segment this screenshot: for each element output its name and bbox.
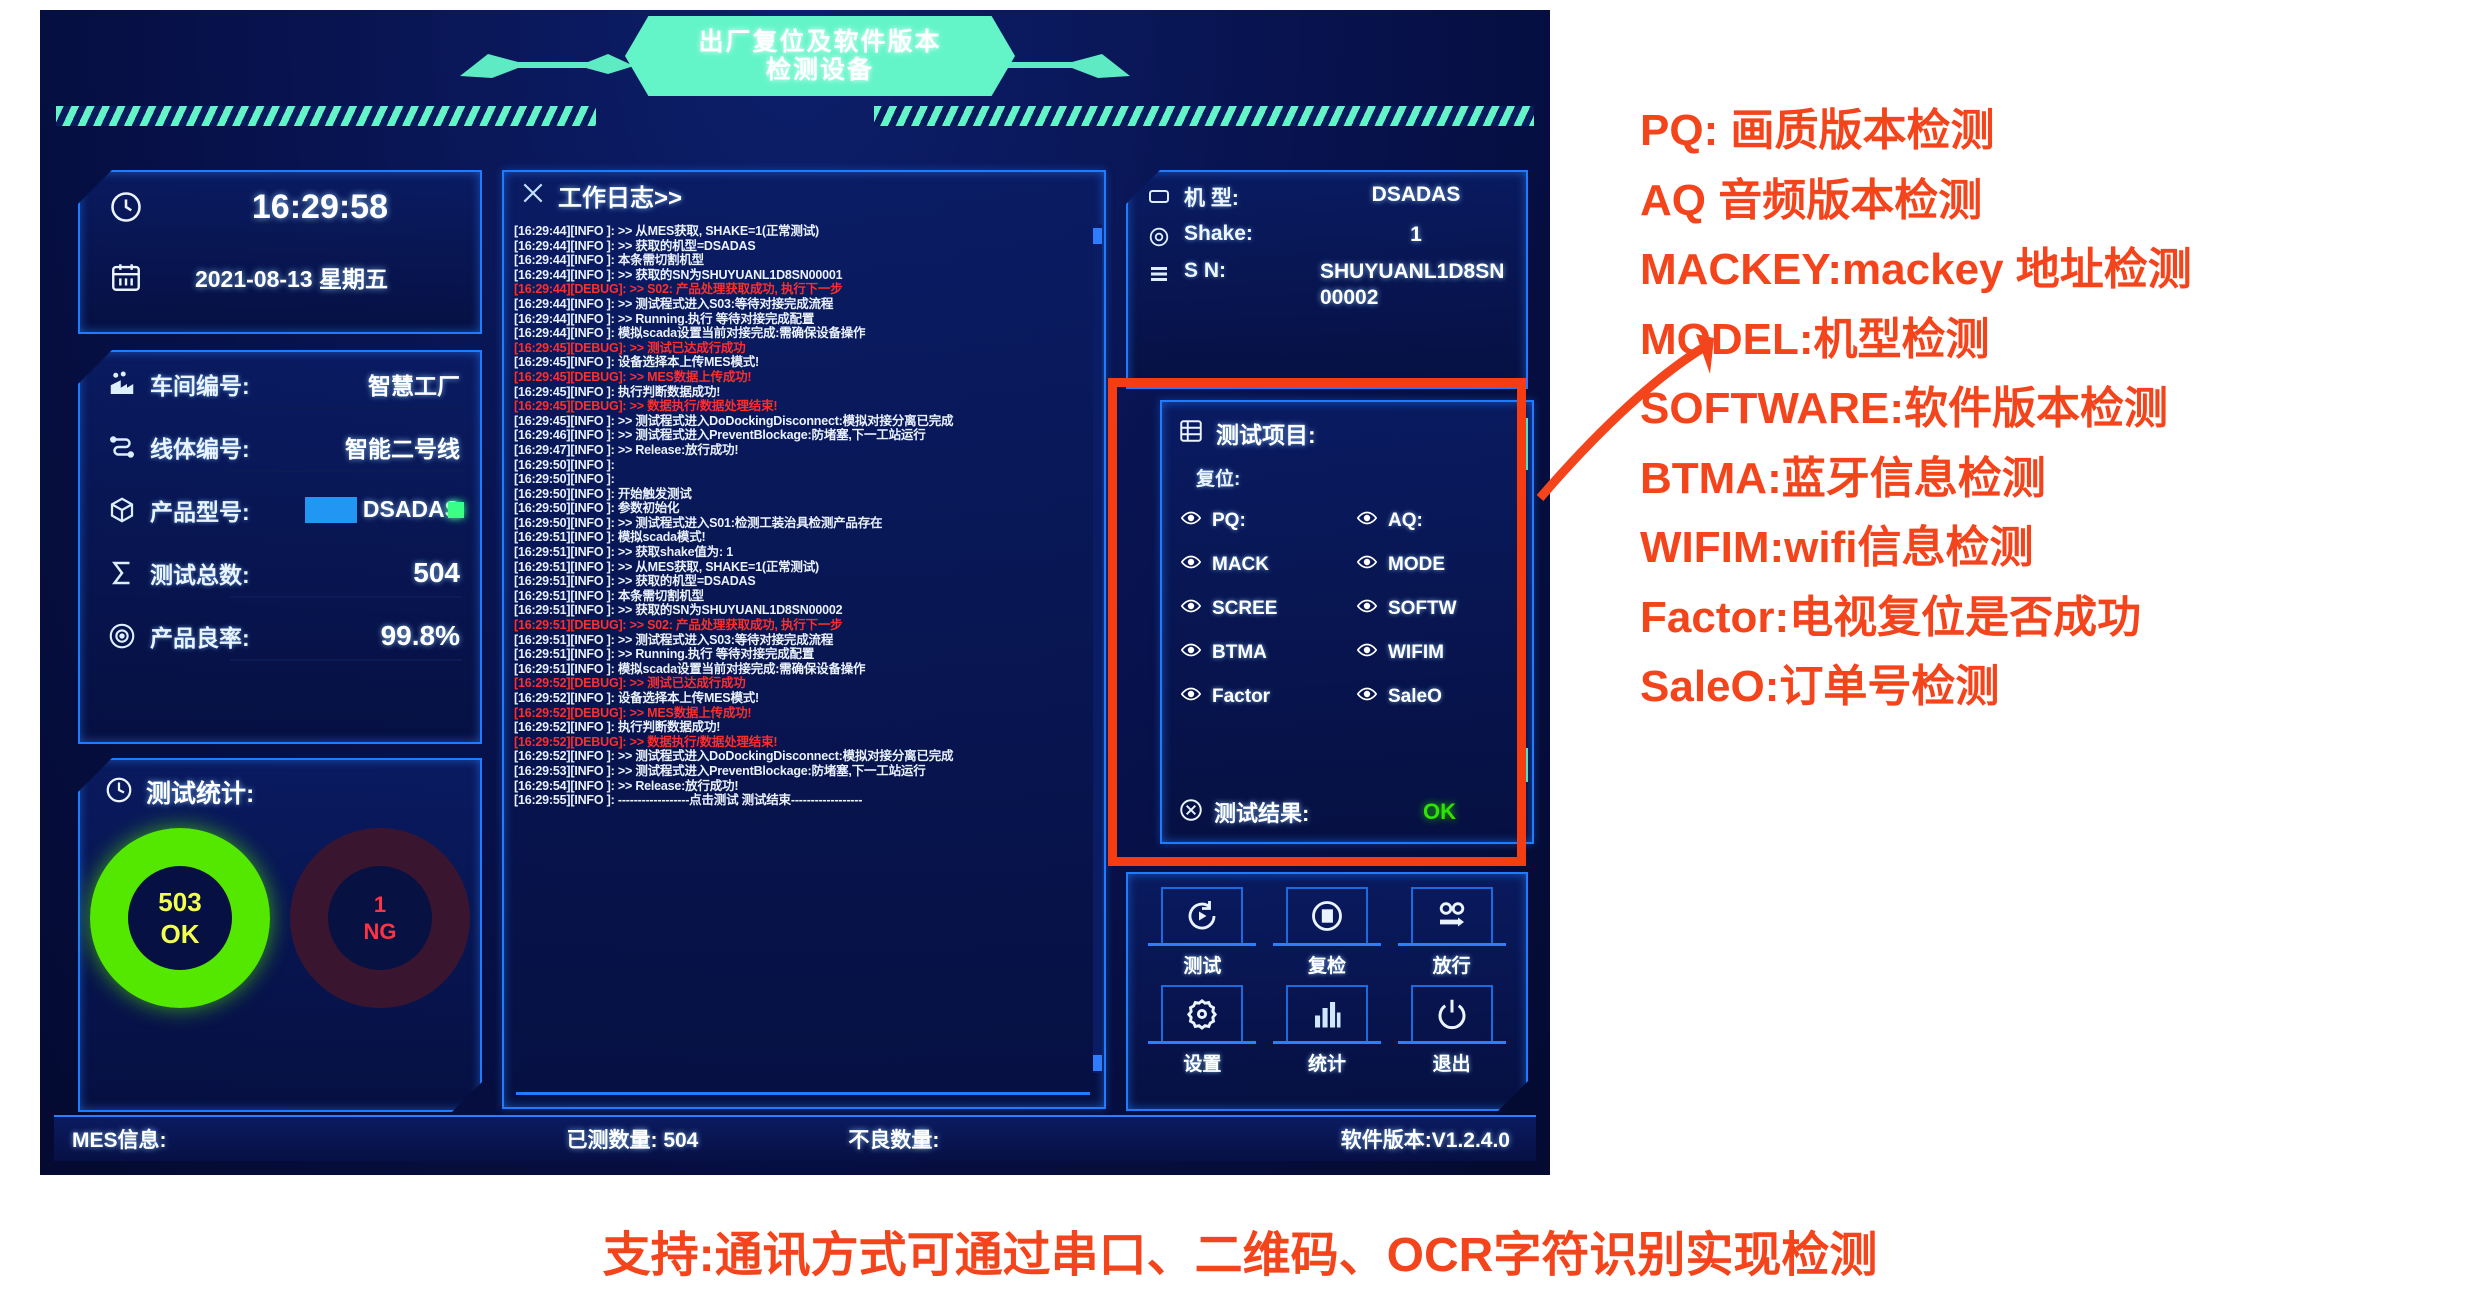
work-log-footer-line	[516, 1092, 1090, 1095]
device-row-sn: S N: SHUYUANL1D8SN00002	[1128, 249, 1526, 312]
log-line: [16:29:51][INFO ]: >> Running.执行 等待对接完成配…	[514, 647, 1092, 662]
info-label-workshop: 车间编号:	[150, 367, 250, 401]
log-line: [16:29:44][INFO ]: 模拟scada设置当前对接完成:需确保设备…	[514, 326, 1092, 341]
log-line: [16:29:51][DEBUG]: >> S02: 产品处理获取成功, 执行下…	[514, 618, 1092, 633]
log-line: [16:29:50][INFO ]: 开始触发测试	[514, 487, 1092, 502]
work-log-header: 工作日志>>	[504, 172, 1104, 218]
action-buttons-grid: 测试复检放行设置统计退出	[1128, 874, 1526, 1089]
donut-ok-label: 503 OK	[158, 886, 201, 951]
status-version: 软件版本:V1.2.4.0	[1341, 1124, 1510, 1154]
log-line: [16:29:44][INFO ]: >> Running.执行 等待对接完成配…	[514, 312, 1092, 327]
monitor-icon	[1144, 182, 1174, 209]
target-icon	[104, 621, 140, 651]
hatch-strip-right	[874, 106, 1534, 126]
button-divider	[1398, 1041, 1506, 1044]
info-underline	[230, 659, 462, 661]
log-line: [16:29:44][INFO ]: >> 获取的机型=DSADAS	[514, 239, 1092, 254]
status-bar: MES信息: 已测数量: 504 不良数量: 软件版本:V1.2.4.0	[54, 1115, 1536, 1161]
play-refresh-icon	[1161, 887, 1243, 943]
button-divider	[1148, 1041, 1256, 1044]
action-button-label: 退出	[1433, 1049, 1471, 1076]
clock-time: 16:29:58	[252, 188, 388, 227]
annotation-line: MACKEY:mackey 地址检测	[1640, 235, 2460, 305]
clock-panel: 16:29:58 2021-08-13 星期五	[78, 170, 482, 334]
action-button-label: 统计	[1308, 1049, 1346, 1076]
log-line: [16:29:45][DEBUG]: >> 测试已达成行成功	[514, 341, 1092, 356]
log-line: [16:29:53][INFO ]: >> 测试程式进入PreventBlock…	[514, 764, 1092, 779]
action-button-pause[interactable]: 复检	[1265, 884, 1390, 982]
power-icon	[1411, 985, 1493, 1041]
log-line: [16:29:52][DEBUG]: >> 数据执行/数据处理结束!	[514, 735, 1092, 750]
log-line: [16:29:46][INFO ]: >> 测试程式进入PreventBlock…	[514, 428, 1092, 443]
work-log-title: 工作日志>>	[558, 178, 682, 213]
log-line: [16:29:51][INFO ]: 模拟scada模式!	[514, 530, 1092, 545]
log-line: [16:29:44][INFO ]: >> 从MES获取, SHAKE=1(正常…	[514, 224, 1092, 239]
log-line: [16:29:50][INFO ]: >> 测试程式进入S01:检测工装治具检测…	[514, 516, 1092, 531]
statistics-title: 测试统计:	[146, 774, 254, 810]
log-line: [16:29:52][INFO ]: 执行判断数据成功!	[514, 720, 1092, 735]
donut-ng-text: NG	[364, 919, 397, 944]
annotation-line: Factor:电视复位是否成功	[1640, 583, 2460, 653]
annotation-line: AQ 音频版本检测	[1640, 166, 2460, 236]
button-divider	[1148, 943, 1256, 946]
log-line: [16:29:51][INFO ]: >> 获取的SN为SHUYUANL1D8S…	[514, 603, 1092, 618]
statistics-header: 测试统计:	[80, 760, 480, 810]
annotation-list: PQ: 画质版本检测AQ 音频版本检测MACKEY:mackey 地址检测MOD…	[1640, 96, 2460, 722]
device-row-shake: Shake: 1	[1128, 212, 1526, 249]
model-color-swatch	[305, 497, 357, 523]
info-label-model: 产品型号:	[150, 493, 250, 527]
action-button-bar-chart[interactable]: 统计	[1265, 982, 1390, 1080]
work-log-panel: 工作日志>> [16:29:44][INFO ]: >> 从MES获取, SHA…	[502, 170, 1106, 1109]
button-divider	[1273, 1041, 1381, 1044]
device-label-model: 机 型:	[1184, 182, 1239, 212]
log-line: [16:29:45][INFO ]: 设备选择本上传MES模式!	[514, 355, 1092, 370]
info-row-workshop: 车间编号: 智慧工厂	[80, 352, 480, 415]
info-value-workshop: 智慧工厂	[368, 367, 460, 401]
donut-ng: 1 NG	[290, 828, 470, 1008]
page-title: 出厂复位及软件版本 检测设备	[625, 16, 1015, 96]
device-value-sn: SHUYUANL1D8SN00002	[1320, 259, 1512, 312]
factory-icon	[104, 369, 140, 399]
button-divider	[1398, 943, 1506, 946]
statistics-donuts: 503 OK 1 NG	[80, 828, 480, 1008]
clock-row: 16:29:58	[80, 172, 480, 242]
log-line: [16:29:50][INFO ]:	[514, 458, 1092, 473]
log-line: [16:29:45][INFO ]: 执行判断数据成功!	[514, 385, 1092, 400]
hatch-strip-left	[56, 106, 596, 126]
highlight-box	[1108, 378, 1526, 866]
product-info-panel: 车间编号: 智慧工厂 线体编号: 智能二号线 产品型号: DSADAS 测试总数…	[78, 350, 482, 744]
action-buttons-panel: 测试复检放行设置统计退出	[1126, 872, 1528, 1111]
log-line: [16:29:50][INFO ]: 参数初始化	[514, 501, 1092, 516]
title-banner: 出厂复位及软件版本 检测设备	[40, 10, 1550, 102]
log-line: [16:29:51][INFO ]: >> 测试程式进入S03:等待对接完成流程	[514, 633, 1092, 648]
log-line: [16:29:44][INFO ]: 本条需切割机型	[514, 253, 1092, 268]
page-title-line2: 检测设备	[766, 56, 874, 84]
gear-icon	[1161, 985, 1243, 1041]
log-line: [16:29:51][INFO ]: 本条需切割机型	[514, 589, 1092, 604]
action-button-label: 放行	[1433, 951, 1471, 978]
info-value-yield: 99.8%	[381, 620, 460, 652]
scroll-thumb-bottom[interactable]	[1093, 1055, 1102, 1071]
info-underline	[230, 407, 462, 409]
clock-date: 2021-08-13 星期五	[195, 260, 388, 294]
sigma-icon	[104, 558, 140, 588]
work-log-scrollbar[interactable]	[1093, 224, 1102, 1073]
calendar-icon	[106, 257, 146, 297]
device-value-model: DSADAS	[1320, 182, 1512, 208]
annotation-line: SOFTWARE:软件版本检测	[1640, 374, 2460, 444]
log-line: [16:29:52][DEBUG]: >> MES数据上传成功!	[514, 706, 1092, 721]
log-line: [16:29:54][INFO ]: >> Release:放行成功!	[514, 779, 1092, 794]
info-row-total: 测试总数: 504	[80, 541, 480, 604]
log-line: [16:29:51][INFO ]: >> 获取shake值为: 1	[514, 545, 1092, 560]
annotation-line: MODEL:机型检测	[1640, 305, 2460, 375]
donut-ok-value: 503	[158, 887, 201, 917]
action-button-power[interactable]: 退出	[1389, 982, 1514, 1080]
model-dropdown-indicator[interactable]	[448, 502, 464, 518]
work-log-body[interactable]: [16:29:44][INFO ]: >> 从MES获取, SHAKE=1(正常…	[514, 224, 1092, 1073]
log-line: [16:29:55][INFO ]: ------------------点击测…	[514, 793, 1092, 808]
action-button-label: 设置	[1183, 1049, 1221, 1076]
status-mes: MES信息:	[72, 1124, 167, 1154]
date-row: 2021-08-13 星期五	[80, 242, 480, 312]
log-line: [16:29:45][INFO ]: >> 测试程式进入DoDockingDis…	[514, 414, 1092, 429]
release-icon	[1411, 887, 1493, 943]
chart-clock-icon	[104, 775, 134, 810]
gear-icon	[1144, 222, 1174, 249]
info-value-total: 504	[413, 557, 460, 589]
donut-ok: 503 OK	[90, 828, 270, 1008]
info-row-model[interactable]: 产品型号: DSADAS	[80, 478, 480, 541]
action-button-release[interactable]: 放行	[1389, 884, 1514, 982]
annotation-line: BTMA:蓝牙信息检测	[1640, 444, 2460, 514]
status-tested: 已测数量: 504	[567, 1124, 699, 1154]
scroll-thumb-top[interactable]	[1093, 228, 1102, 244]
title-wing-left-icon	[458, 48, 648, 82]
info-label-line: 线体编号:	[150, 430, 250, 464]
button-divider	[1273, 943, 1381, 946]
status-defect: 不良数量:	[848, 1124, 939, 1154]
line-icon	[104, 432, 140, 462]
log-line: [16:29:51][INFO ]: >> 获取的机型=DSADAS	[514, 574, 1092, 589]
action-button-play-refresh[interactable]: 测试	[1140, 884, 1265, 982]
log-line: [16:29:51][INFO ]: 模拟scada设置当前对接完成:需确保设备…	[514, 662, 1092, 677]
device-row-model: 机 型: DSADAS	[1128, 172, 1526, 212]
page-title-line1: 出厂复位及软件版本	[698, 28, 941, 56]
info-underline	[230, 470, 462, 472]
info-underline	[230, 596, 462, 598]
log-line: [16:29:52][DEBUG]: >> 测试已达成行成功	[514, 676, 1092, 691]
caption-text: 支持:通讯方式可通过串口、二维码、OCR字符识别实现检测	[0, 1215, 2480, 1285]
log-line: [16:29:52][INFO ]: 设备选择本上传MES模式!	[514, 691, 1092, 706]
statistics-panel: 测试统计: 503 OK 1 NG	[78, 758, 482, 1112]
box-icon	[104, 495, 140, 525]
bar-chart-icon	[1286, 985, 1368, 1041]
info-label-total: 测试总数:	[150, 556, 250, 590]
tools-icon	[520, 180, 546, 211]
info-label-yield: 产品良率:	[150, 619, 250, 653]
info-row-yield: 产品良率: 99.8%	[80, 604, 480, 667]
clock-icon	[106, 187, 146, 227]
info-value-model: DSADAS	[305, 496, 460, 524]
donut-ng-label: 1 NG	[364, 891, 397, 946]
action-button-gear[interactable]: 设置	[1140, 982, 1265, 1080]
action-button-label: 复检	[1308, 951, 1346, 978]
info-row-line: 线体编号: 智能二号线	[80, 415, 480, 478]
info-value-line: 智能二号线	[345, 430, 460, 464]
action-button-label: 测试	[1183, 951, 1221, 978]
log-line: [16:29:45][DEBUG]: >> MES数据上传成功!	[514, 370, 1092, 385]
log-line: [16:29:45][DEBUG]: >> 数据执行/数据处理结束!	[514, 399, 1092, 414]
log-line: [16:29:44][INFO ]: >> 获取的SN为SHUYUANL1D8S…	[514, 268, 1092, 283]
log-line: [16:29:44][INFO ]: >> 测试程式进入S03:等待对接完成流程	[514, 297, 1092, 312]
log-line: [16:29:52][INFO ]: >> 测试程式进入DoDockingDis…	[514, 749, 1092, 764]
log-line: [16:29:51][INFO ]: >> 从MES获取, SHAKE=1(正常…	[514, 560, 1092, 575]
annotation-line: WIFIM:wifi信息检测	[1640, 513, 2460, 583]
donut-ok-text: OK	[160, 919, 199, 949]
model-text: DSADAS	[363, 496, 460, 522]
log-line: [16:29:47][INFO ]: >> Release:放行成功!	[514, 443, 1092, 458]
log-line: [16:29:50][INFO ]:	[514, 472, 1092, 487]
donut-ng-value: 1	[374, 892, 386, 917]
pause-icon	[1286, 887, 1368, 943]
device-label-shake: Shake:	[1184, 222, 1253, 246]
device-info-panel: 机 型: DSADAS Shake: 1 S N: SHUYUANL1D8SN0…	[1126, 170, 1528, 389]
device-value-shake: 1	[1320, 222, 1512, 248]
list-icon	[1144, 259, 1174, 286]
device-label-sn: S N:	[1184, 259, 1226, 283]
annotation-line: SaleO:订单号检测	[1640, 652, 2460, 722]
log-line: [16:29:44][DEBUG]: >> S02: 产品处理获取成功, 执行下…	[514, 282, 1092, 297]
annotation-line: PQ: 画质版本检测	[1640, 96, 2460, 166]
